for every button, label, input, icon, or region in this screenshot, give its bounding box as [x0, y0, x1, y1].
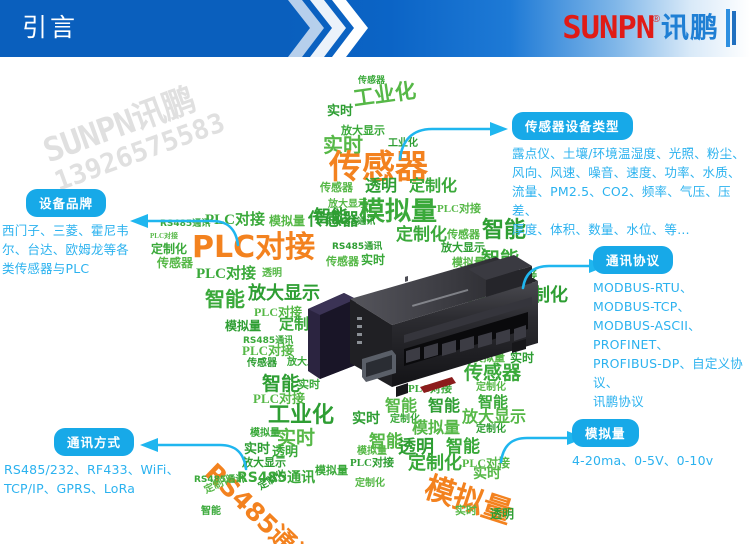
cloud-word: 模拟量: [412, 420, 460, 436]
callout-line: RS485/232、RF433、WiFi、: [4, 460, 184, 479]
cloud-word: 透明: [365, 178, 397, 194]
callout-comm-method[interactable]: 通讯方式 RS485/232、RF433、WiFi、 TCP/IP、GPRS、L…: [4, 428, 184, 498]
callout-analog-quantity[interactable]: 模拟量 4-20ma、0-5V、0-10v: [572, 419, 750, 470]
cloud-word: 工业化: [352, 80, 417, 110]
cloud-word: 透明: [490, 508, 514, 520]
cloud-word: 定制化: [409, 178, 457, 194]
cloud-word: 工业化: [268, 405, 334, 427]
cloud-word: 模拟量: [357, 447, 387, 457]
cloud-word: 定制化: [396, 227, 447, 244]
company-logo: SUNPN®讯鹏: [564, 6, 736, 50]
cloud-word: 定制化: [476, 425, 506, 435]
cloud-word: 放大显示: [242, 457, 286, 468]
cloud-word: 模拟量: [225, 320, 261, 332]
cloud-word: RS485通讯: [160, 220, 210, 229]
cloud-word: 实时: [473, 467, 501, 481]
callout-line: TCP/IP、GPRS、LoRa: [4, 479, 184, 498]
callout-line: 西门子、三菱、霍尼韦: [2, 221, 130, 240]
cloud-word: 定制化: [151, 243, 187, 255]
callout-body-analog-quantity: 4-20ma、0-5V、0-10v: [572, 451, 750, 470]
callout-line: 流量、PM2.5、CO2、频率、气压、压差、: [512, 182, 750, 220]
cloud-word: 实时: [352, 412, 380, 426]
callout-title-analog-quantity: 模拟量: [572, 419, 639, 447]
cloud-word: 智能: [201, 507, 221, 517]
logo-latin-text: SUNPN: [563, 11, 655, 45]
watermark-brand: SUNPN讯鹏: [35, 38, 296, 172]
logo-chinese-text: 讯鹏: [661, 12, 719, 44]
callout-title-sensor-device-type: 传感器设备类型: [512, 112, 633, 140]
callout-line: MODBUS-RTU、MODBUS-TCP、: [593, 278, 750, 316]
cloud-word: 智能: [428, 398, 460, 414]
callout-line: 讯鹏协议: [593, 392, 750, 411]
callout-device-brand[interactable]: 设备品牌 西门子、三菱、霍尼韦 尔、台达、欧姆龙等各 类传感器与PLC: [2, 189, 130, 278]
callout-line: 尔、台达、欧姆龙等各: [2, 240, 130, 259]
cloud-word: 模拟量: [269, 215, 305, 227]
chevron-right-icon-3: [332, 0, 372, 57]
logo-bars-icon: [724, 9, 736, 47]
callout-line: 厚度、体积、数量、水位、等…: [512, 220, 750, 239]
cloud-word: 透明: [262, 269, 282, 279]
cloud-word: PLC对接: [150, 233, 178, 240]
page-header: 引言 SUNPN®讯鹏: [0, 0, 750, 57]
cloud-word: PLC对接: [196, 267, 256, 282]
cloud-word: 放大显示: [462, 409, 526, 425]
cloud-word: 实时: [244, 443, 270, 456]
callout-title-comm-method: 通讯方式: [54, 428, 134, 456]
callout-line: 类传感器与PLC: [2, 259, 130, 278]
watermark-phone: 13926575583: [50, 80, 305, 198]
callout-title-comm-protocol: 通讯协议: [593, 246, 673, 274]
cloud-word: 传感器: [247, 359, 277, 369]
cloud-word: 定制化: [408, 455, 462, 473]
cloud-word: 传感器: [308, 212, 359, 229]
callout-line: 露点仪、土壤/环境温湿度、光照、粉尘、: [512, 144, 750, 163]
callout-body-comm-method: RS485/232、RF433、WiFi、 TCP/IP、GPRS、LoRa: [4, 460, 184, 498]
plc-device-image: [300, 247, 545, 397]
cloud-word: 实时: [327, 105, 353, 118]
callout-comm-protocol[interactable]: 通讯协议 MODBUS-RTU、MODBUS-TCP、 MODBUS-ASCII…: [593, 246, 750, 411]
cloud-word: 定制化: [355, 479, 385, 489]
cloud-word: PLC对接: [192, 233, 315, 263]
registered-trademark-icon: ®: [653, 14, 660, 25]
callout-sensor-device-type[interactable]: 传感器设备类型 露点仪、土壤/环境温湿度、光照、粉尘、 风向、风速、噪音、速度、…: [512, 112, 750, 239]
cloud-word: PLC对接: [205, 213, 265, 228]
callout-body-sensor-device-type: 露点仪、土壤/环境温湿度、光照、粉尘、 风向、风速、噪音、速度、功率、水质、 流…: [512, 144, 750, 239]
callout-line: 4-20ma、0-5V、0-10v: [572, 451, 750, 470]
callout-body-comm-protocol: MODBUS-RTU、MODBUS-TCP、 MODBUS-ASCII、PROF…: [593, 278, 750, 411]
cloud-word: PLC对接: [350, 458, 394, 469]
cloud-word: 智能: [205, 289, 245, 309]
callout-line: MODBUS-ASCII、PROFINET、: [593, 316, 750, 354]
cloud-word: 智能: [385, 398, 417, 414]
cloud-word: PLC对接: [242, 344, 294, 357]
callout-line: PROFIBUS-DP、自定义协议、: [593, 354, 750, 392]
infographic-page: 引言 SUNPN®讯鹏 SUNPN讯鹏 13926575583 传感器工业化实时…: [0, 0, 750, 544]
page-title: 引言: [22, 12, 78, 44]
cloud-word: 实时: [455, 505, 477, 516]
cloud-word: 传感器: [157, 257, 193, 269]
cloud-word: 传感器: [320, 182, 353, 193]
diagram-canvas: SUNPN讯鹏 13926575583 传感器工业化实时放大显示实时工业化传感器…: [0, 57, 750, 544]
cloud-word: 模拟量: [250, 429, 280, 439]
callout-body-device-brand: 西门子、三菱、霍尼韦 尔、台达、欧姆龙等各 类传感器与PLC: [2, 221, 130, 278]
cloud-word: 传感器: [447, 229, 480, 240]
callout-line: 风向、风速、噪音、速度、功率、水质、: [512, 163, 750, 182]
cloud-word: 模拟量: [315, 465, 348, 476]
cloud-word: PLC对接: [437, 204, 481, 215]
callout-title-device-brand: 设备品牌: [26, 189, 106, 217]
